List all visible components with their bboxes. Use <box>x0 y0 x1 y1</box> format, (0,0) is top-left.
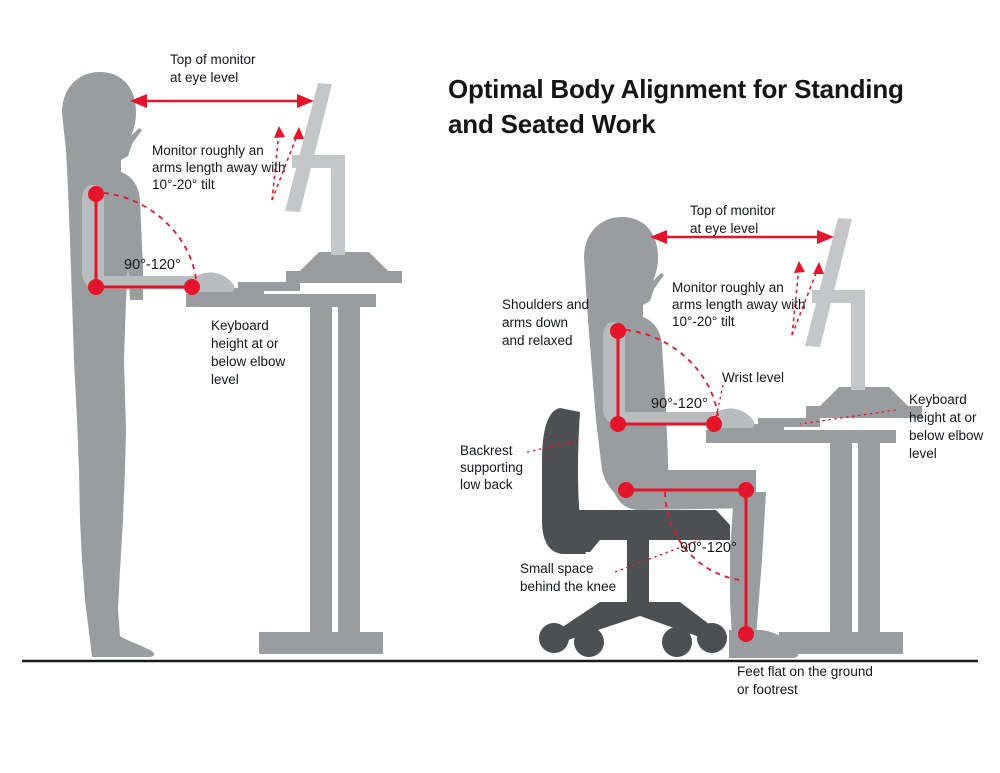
seated-desk-upper-shelf <box>806 406 922 418</box>
shoulders-line-1: Shoulders and <box>502 297 589 312</box>
ankle-joint-dot <box>738 626 754 642</box>
seated-keyboard-line-4: level <box>909 446 937 461</box>
seated-desk-column-outer <box>830 443 852 643</box>
seated-keyboard-line-2: height at or <box>909 410 977 425</box>
seated-desk-floor-base <box>779 632 903 654</box>
shoulders-line-3: and relaxed <box>502 333 573 348</box>
feet-flat-line-1: Feet flat on the ground <box>737 664 873 679</box>
knee-joint-dot <box>738 482 754 498</box>
small-space-line-2: behind the knee <box>520 579 616 594</box>
chair-gas-cylinder <box>627 540 649 604</box>
standing-keyboard-line-4: level <box>211 372 239 387</box>
standing-distance-line-1: Monitor roughly an <box>152 143 264 158</box>
seated-knee-angle-label: 90°-120° <box>680 540 737 556</box>
chair-castor-2 <box>574 627 604 657</box>
standing-keyboard-line-1: Keyboard <box>211 318 269 333</box>
standing-keyboard-line-3: below elbow <box>211 354 286 369</box>
standing-eye-level-line-2: at eye level <box>170 70 238 85</box>
seated-distance-line-2: arms length away with <box>672 297 806 312</box>
desk-column-outer <box>310 307 332 643</box>
backrest-line-1: Backrest <box>460 443 513 458</box>
desk-column-inner <box>338 307 360 643</box>
shoulder-joint-dot <box>88 186 104 202</box>
wrist-level-label: Wrist level <box>722 370 784 385</box>
standing-distance-line-2: arms length away with <box>152 160 286 175</box>
seated-eye-level-line-2: at eye level <box>690 221 758 236</box>
shoulders-line-2: arms down <box>502 315 568 330</box>
standing-distance-line-3: 10°-20° tilt <box>152 177 215 192</box>
seated-distance-line-1: Monitor roughly an <box>672 280 784 295</box>
backrest-line-2: supporting <box>460 460 523 475</box>
standing-eye-level-line-1: Top of monitor <box>170 52 256 67</box>
desk-floor-base <box>259 632 383 654</box>
seated-keyboard-line-3: below elbow <box>909 428 984 443</box>
seated-keyboard-line-1: Keyboard <box>909 392 967 407</box>
feet-flat-line-2: or footrest <box>737 682 798 697</box>
small-space-line-1: Small space <box>520 561 594 576</box>
title-line-2: and Seated Work <box>448 109 656 139</box>
standing-keyboard-line-2: height at or <box>211 336 279 351</box>
wrist-joint-dot <box>184 279 200 295</box>
seated-distance-line-3: 10°-20° tilt <box>672 314 735 329</box>
seated-elbow-joint-dot <box>610 416 626 432</box>
monitor-arm-riser <box>331 155 345 255</box>
hip-joint-dot <box>618 482 634 498</box>
seated-elbow-angle-label: 90°-120° <box>651 396 708 412</box>
chair-castor-4 <box>697 623 727 653</box>
mousepad-slab <box>238 282 300 291</box>
diagram-canvas: Optimal Body Alignment for Standing and … <box>0 0 1000 773</box>
backrest-line-3: low back <box>460 477 513 492</box>
ergonomics-infographic: Optimal Body Alignment for Standing and … <box>0 0 1000 773</box>
desk-upper-shelf <box>286 271 402 283</box>
chair-castor-1 <box>539 623 569 653</box>
chair-castor-3 <box>662 627 692 657</box>
seated-desk-column-inner <box>858 443 880 643</box>
standing-elbow-angle-label: 90°-120° <box>124 257 181 273</box>
seated-wrist-joint-dot <box>706 416 722 432</box>
elbow-joint-dot <box>88 279 104 295</box>
seated-eye-level-line-1: Top of monitor <box>690 203 776 218</box>
seated-monitor-arm-riser <box>851 290 865 390</box>
title-line-1: Optimal Body Alignment for Standing <box>448 74 904 104</box>
seated-shoulder-joint-dot <box>610 323 626 339</box>
